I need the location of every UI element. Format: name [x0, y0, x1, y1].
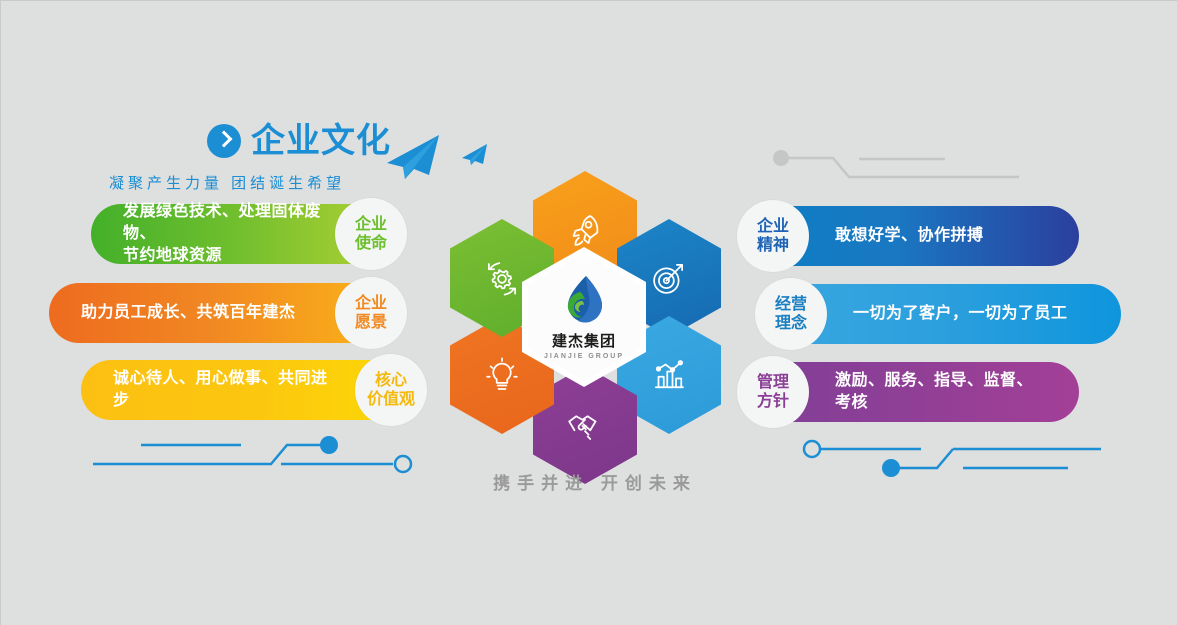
badge-line-2: 愿景: [355, 313, 387, 332]
logo-name-en: JIANJIE GROUP: [544, 353, 624, 360]
badge-line-1: 核心: [375, 371, 407, 390]
panel-corporate-vision[interactable]: 助力员工成长、共筑百年建杰 企业 愿景: [49, 283, 401, 343]
footer-slogan: 携手并进 开创未来: [445, 469, 745, 494]
page-title: 企业文化: [251, 123, 391, 159]
badge-line-2: 精神: [757, 236, 789, 255]
decoration-line-bottom-right: [801, 437, 1101, 487]
panel-text: 诚心待人、用心做事、共同进步: [113, 368, 343, 412]
panel-text: 激励、服务、指导、监督、考核: [835, 370, 1049, 414]
badge-line-1: 经营: [775, 295, 807, 314]
panel-text: 敢想好学、协作拼搏: [835, 225, 984, 247]
badge-line-1: 企业: [757, 217, 789, 236]
hexagon-cluster: 建杰集团 JIANJIE GROUP: [445, 161, 745, 461]
bar-chart-icon: [648, 354, 690, 396]
panel-badge: 经营 理念: [755, 278, 827, 350]
panel-corporate-spirit[interactable]: 敢想好学、协作拼搏 企业 精神: [743, 206, 1079, 266]
panel-badge: 企业 使命: [335, 198, 407, 270]
panel-text: 发展绿色技术、处理固体废物、 节约地球资源: [123, 201, 323, 267]
panel-core-values[interactable]: 诚心待人、用心做事、共同进步 核心 价值观: [81, 360, 421, 420]
panel-text: 一切为了客户，一切为了员工: [853, 303, 1068, 325]
badge-line-2: 方针: [757, 392, 789, 411]
badge-line-2: 理念: [775, 314, 807, 333]
panel-corporate-mission[interactable]: 发展绿色技术、处理固体废物、 节约地球资源 企业 使命: [91, 204, 401, 264]
handshake-icon: [564, 404, 606, 446]
panel-badge: 企业 精神: [737, 200, 809, 272]
panel-text: 助力员工成长、共筑百年建杰: [81, 302, 296, 324]
chevron-right-icon: [207, 124, 241, 158]
badge-line-1: 管理: [757, 373, 789, 392]
badge-line-2: 价值观: [367, 390, 415, 409]
paper-plane-icon: [381, 133, 443, 181]
title-row: 企业文化: [109, 119, 509, 163]
target-icon: [648, 257, 690, 299]
decoration-line-bottom-left: [93, 433, 418, 483]
badge-line-2: 使命: [355, 234, 387, 253]
panel-business-philosophy[interactable]: 一切为了客户，一切为了员工 经营 理念: [761, 284, 1121, 344]
badge-line-1: 企业: [355, 215, 387, 234]
panel-badge: 企业 愿景: [335, 277, 407, 349]
lightbulb-icon: [481, 354, 523, 396]
panel-badge: 核心 价值观: [355, 354, 427, 426]
water-drop-logo-icon: [560, 274, 608, 328]
culture-wall-canvas: 企业文化 凝聚产生力量 团结诞生希望 发展绿色技术、处理固体废物、 节约地球资源…: [0, 0, 1177, 625]
panel-management-policy[interactable]: 激励、服务、指导、监督、考核 管理 方针: [743, 362, 1079, 422]
panel-badge: 管理 方针: [737, 356, 809, 428]
center-logo-inner: 建杰集团 JIANJIE GROUP: [528, 253, 640, 381]
gear-icon: [481, 257, 523, 299]
badge-line-1: 企业: [355, 294, 387, 313]
logo-name-cn: 建杰集团: [552, 330, 616, 351]
rocket-icon: [564, 209, 606, 251]
decoration-line-top-right: [771, 146, 1031, 196]
